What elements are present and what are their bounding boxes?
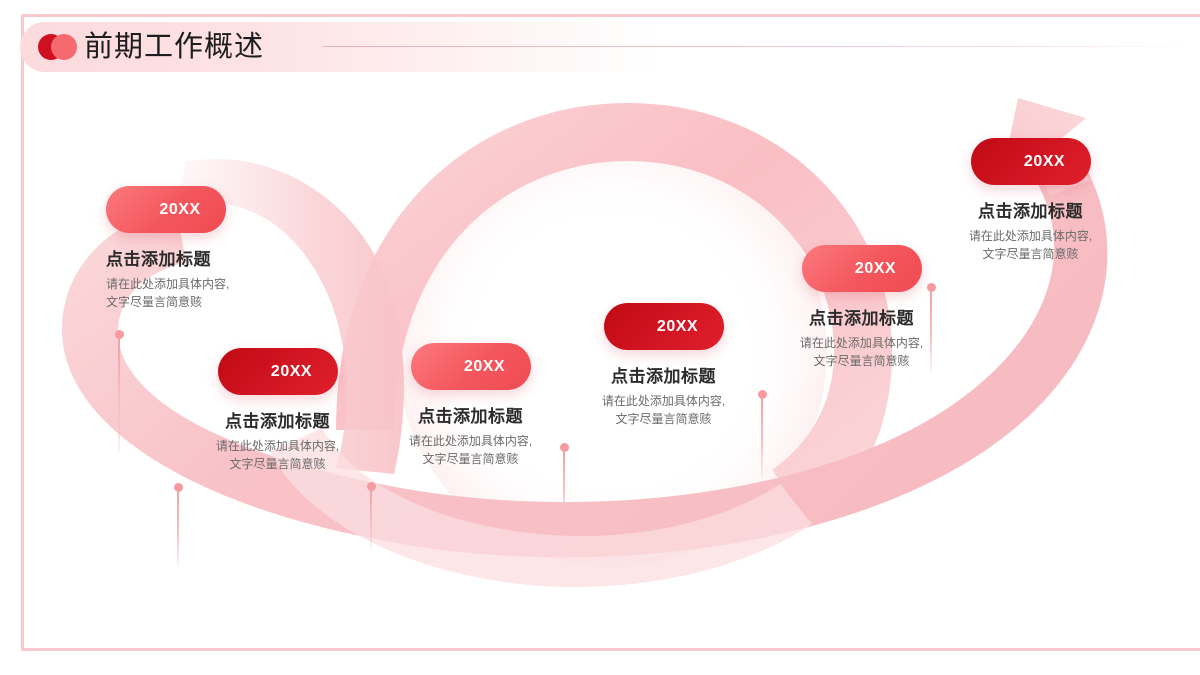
item-title-5: 点击添加标题 <box>749 304 974 329</box>
item-title-1: 点击添加标题 <box>106 245 336 270</box>
item-desc-5: 请在此处添加具体内容, 文字尽量言简意赅 <box>749 334 974 370</box>
item-desc-line2-5: 文字尽量言简意赅 <box>749 352 974 370</box>
item-desc-2: 请在此处添加具体内容, 文字尽量言简意赅 <box>165 437 390 473</box>
connector-line-2 <box>177 489 179 567</box>
connector-item-1 <box>118 330 120 448</box>
item-desc-line2-4: 文字尽量言简意赅 <box>551 410 776 428</box>
item-desc-line1-1: 请在此处添加具体内容, <box>106 275 336 293</box>
item-desc-line1-2: 请在此处添加具体内容, <box>165 437 390 455</box>
item-title-4: 点击添加标题 <box>551 362 776 387</box>
two-overlapping-circles-logo <box>38 34 94 60</box>
year-badge-1[interactable]: 20XX <box>106 186 226 233</box>
timeline-item-6[interactable]: 20XX 点击添加标题 请在此处添加具体内容, 文字尽量言简意赅 <box>918 138 1143 263</box>
item-desc-line2-6: 文字尽量言简意赅 <box>918 245 1143 263</box>
item-desc-line2-1: 文字尽量言简意赅 <box>106 293 336 311</box>
slide-root: 前期工作概述 20XX 点击添加标题 请在此处添加具体内容, 文字尽量言简意赅 <box>0 0 1200 675</box>
connector-line-3 <box>370 488 372 550</box>
year-label-4: 20XX <box>657 318 698 336</box>
timeline-item-5[interactable]: 20XX 点击添加标题 请在此处添加具体内容, 文字尽量言简意赅 <box>749 245 974 370</box>
timeline-item-4[interactable]: 20XX 点击添加标题 请在此处添加具体内容, 文字尽量言简意赅 <box>551 303 776 428</box>
item-desc-line2-2: 文字尽量言简意赅 <box>165 455 390 473</box>
year-label-3: 20XX <box>464 358 505 376</box>
slide-header: 前期工作概述 <box>20 22 660 72</box>
timeline-item-2[interactable]: 20XX 点击添加标题 请在此处添加具体内容, 文字尽量言简意赅 <box>165 348 390 473</box>
year-label-2: 20XX <box>271 363 312 381</box>
item-desc-6: 请在此处添加具体内容, 文字尽量言简意赅 <box>918 227 1143 263</box>
item-title-6: 点击添加标题 <box>918 197 1143 222</box>
item-desc-line2-3: 文字尽量言简意赅 <box>358 450 583 468</box>
connector-line-1 <box>118 336 120 454</box>
year-badge-5[interactable]: 20XX <box>802 245 922 292</box>
item-desc-line1-5: 请在此处添加具体内容, <box>749 334 974 352</box>
item-title-3: 点击添加标题 <box>358 402 583 427</box>
connector-item-2 <box>177 483 179 561</box>
year-badge-4[interactable]: 20XX <box>604 303 724 350</box>
timeline-item-1[interactable]: 20XX 点击添加标题 请在此处添加具体内容, 文字尽量言简意赅 <box>106 186 336 311</box>
item-desc-1: 请在此处添加具体内容, 文字尽量言简意赅 <box>106 275 336 311</box>
year-label-5: 20XX <box>855 260 896 278</box>
item-desc-line1-6: 请在此处添加具体内容, <box>918 227 1143 245</box>
item-desc-3: 请在此处添加具体内容, 文字尽量言简意赅 <box>358 432 583 468</box>
item-desc-line1-3: 请在此处添加具体内容, <box>358 432 583 450</box>
year-label-6: 20XX <box>1024 153 1065 171</box>
item-desc-line1-4: 请在此处添加具体内容, <box>551 392 776 410</box>
item-title-2: 点击添加标题 <box>165 407 390 432</box>
timeline-item-3[interactable]: 20XX 点击添加标题 请在此处添加具体内容, 文字尽量言简意赅 <box>358 343 583 468</box>
logo-light-circle-icon <box>51 34 77 60</box>
item-desc-4: 请在此处添加具体内容, 文字尽量言简意赅 <box>551 392 776 428</box>
year-badge-3[interactable]: 20XX <box>411 343 531 390</box>
year-badge-2[interactable]: 20XX <box>218 348 338 395</box>
connector-item-3 <box>370 482 372 544</box>
year-label-1: 20XX <box>159 201 200 219</box>
header-divider-line <box>322 46 1192 47</box>
year-badge-6[interactable]: 20XX <box>971 138 1091 185</box>
page-title: 前期工作概述 <box>84 30 264 64</box>
